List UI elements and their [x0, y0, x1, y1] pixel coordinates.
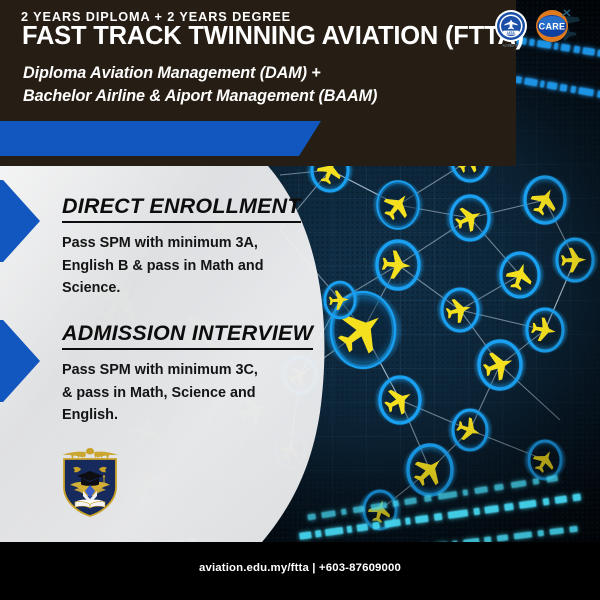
admission-interview-line3: English. — [62, 404, 302, 427]
svg-text:ACCREDITED: ACCREDITED — [503, 44, 520, 48]
svg-text:IATA: IATA — [507, 31, 515, 35]
admission-interview-line2: & pass in Math, Science and — [62, 382, 302, 405]
crest-wing-bar — [62, 448, 118, 459]
poster-canvas: FAST TRACK TWINNING AVIATION (FTTA) Dipl… — [0, 0, 600, 600]
footer-bar: aviation.edu.my/ftta | +603-87609000 — [0, 542, 600, 600]
program-subtitle-line1: Diploma Aviation Management (DAM) + — [23, 62, 377, 85]
university-crest-emblem — [57, 441, 123, 519]
page-title: FAST TRACK TWINNING AVIATION (FTTA) — [22, 22, 524, 51]
section-body-admission-interview: Pass SPM with minimum 3C, & pass in Math… — [62, 359, 302, 427]
duration-ribbon-banner — [0, 121, 321, 156]
direct-enrollment-line2: English B & pass in Math and — [62, 255, 302, 278]
accreditation-badges: IATA ACCREDITED CARE — [484, 6, 588, 54]
section-body-direct-enrollment: Pass SPM with minimum 3A, English B & pa… — [62, 232, 302, 300]
program-subtitle-line2: Bachelor Airline & Aiport Management (BA… — [23, 85, 377, 108]
section-heading-admission-interview: ADMISSION INTERVIEW — [62, 321, 313, 350]
direct-enrollment-line1: Pass SPM with minimum 3A, — [62, 232, 302, 255]
program-subtitle: Diploma Aviation Management (DAM) + Bach… — [23, 62, 377, 108]
svg-text:CARE: CARE — [539, 22, 566, 32]
section-heading-direct-enrollment: DIRECT ENROLLMENT — [62, 194, 301, 223]
duration-ribbon-label: 2 YEARS DIPLOMA + 2 YEARS DEGREE — [21, 10, 291, 24]
direct-enrollment-line3: Science. — [62, 277, 302, 300]
footer-contact-text[interactable]: aviation.edu.my/ftta | +603-87609000 — [0, 562, 600, 574]
requirements-content: DIRECT ENROLLMENT Pass SPM with minimum … — [0, 166, 360, 542]
iata-accreditation-badge[interactable]: IATA ACCREDITED — [495, 10, 527, 48]
admission-interview-line1: Pass SPM with minimum 3C, — [62, 359, 302, 382]
